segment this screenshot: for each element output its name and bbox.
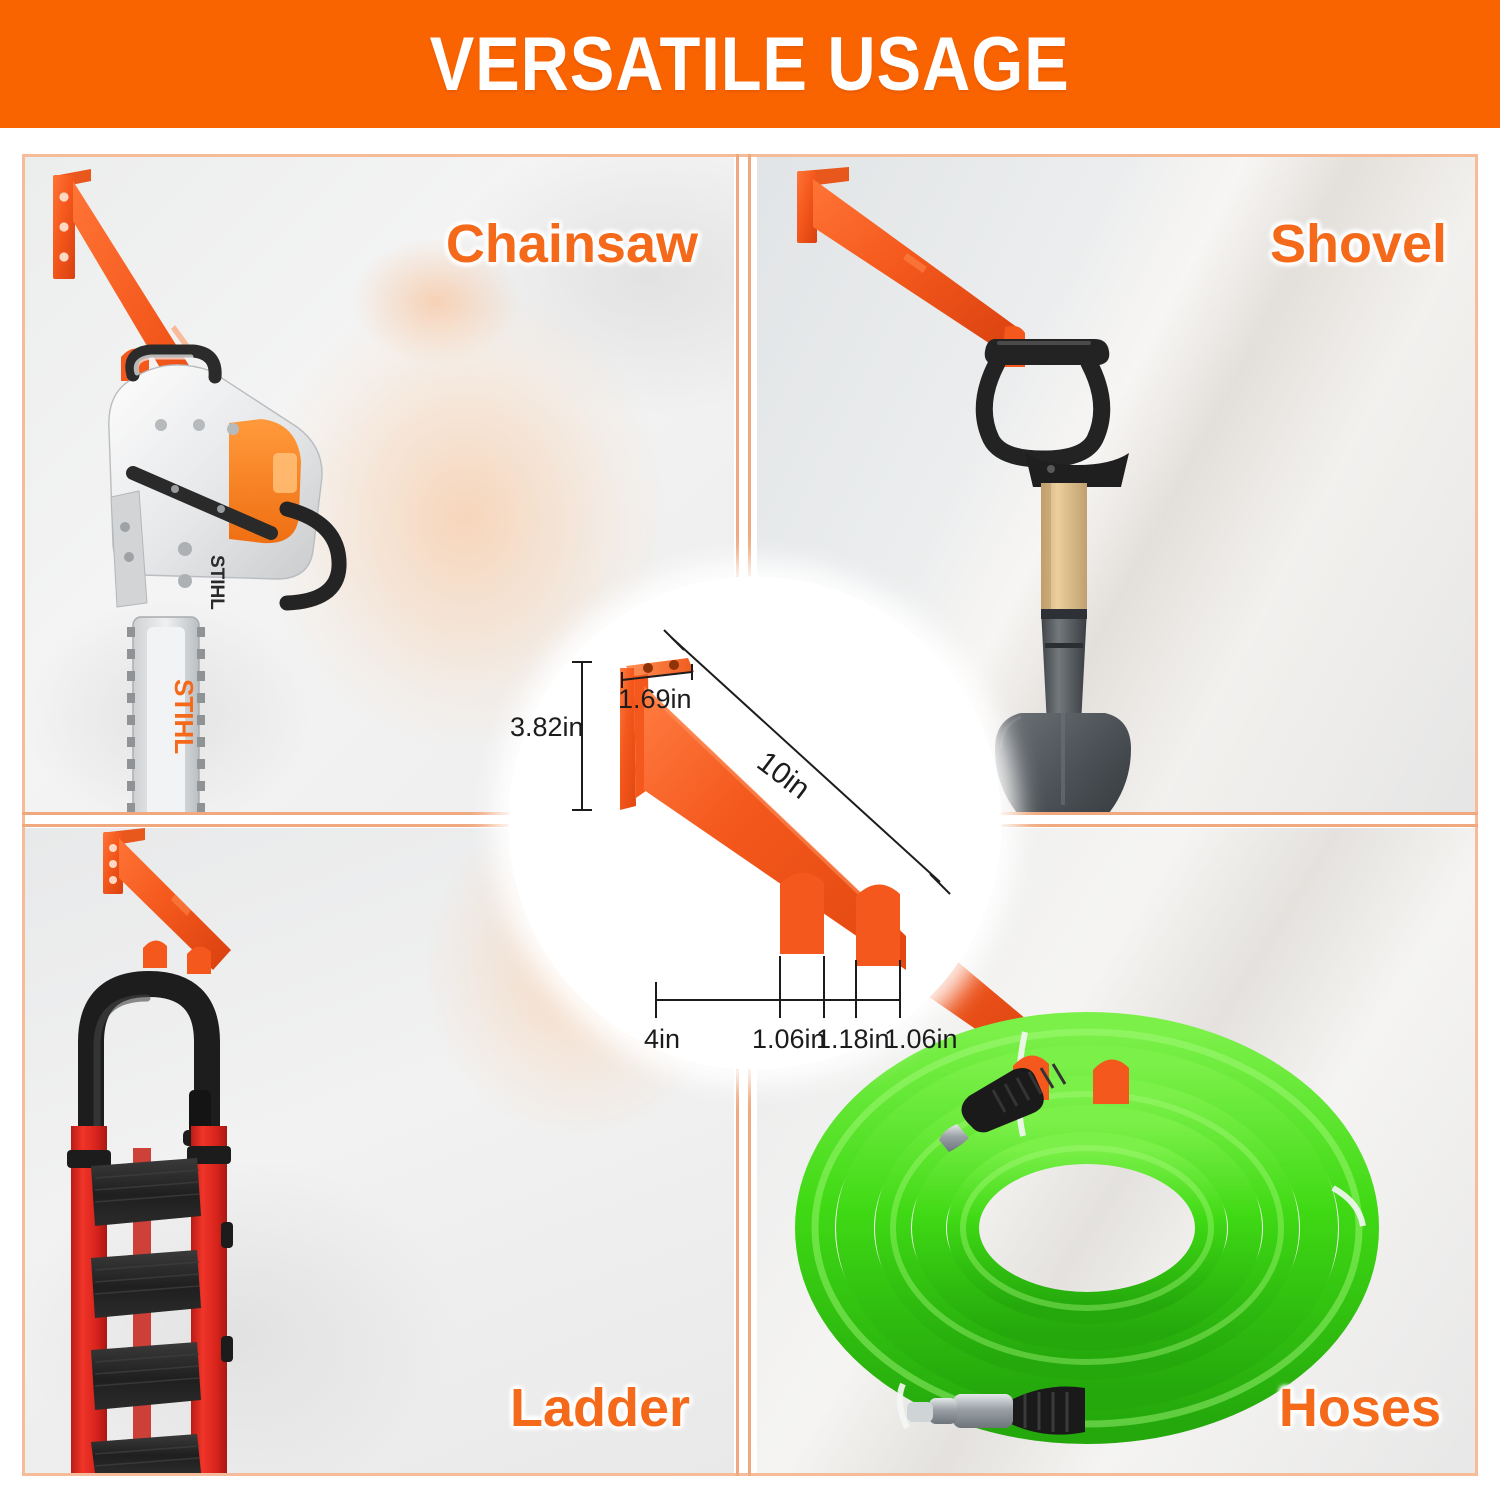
dimension-top-width-text: 1.69in	[618, 684, 692, 715]
dimension-hook1-text: 1.06in	[752, 1024, 826, 1055]
bracket-dimension-drawing: 10in	[508, 576, 1002, 1070]
page-title: VERSATILE USAGE	[430, 21, 1070, 108]
header-banner: VERSATILE USAGE	[0, 0, 1500, 128]
dimension-callout-circle: 10in 3.82in 1.69in 4in 1.06in 1.18in 1.0…	[508, 576, 1002, 1070]
panels-grid: STIHL	[0, 128, 1500, 1500]
dimension-hookgap-text: 1.18in	[816, 1024, 890, 1055]
dimension-hook2-text: 1.06in	[884, 1024, 958, 1055]
infographic-page: VERSATILE USAGE	[0, 0, 1500, 1500]
dimension-clearance-text: 4in	[644, 1024, 680, 1055]
dimension-height-text: 3.82in	[510, 712, 584, 743]
